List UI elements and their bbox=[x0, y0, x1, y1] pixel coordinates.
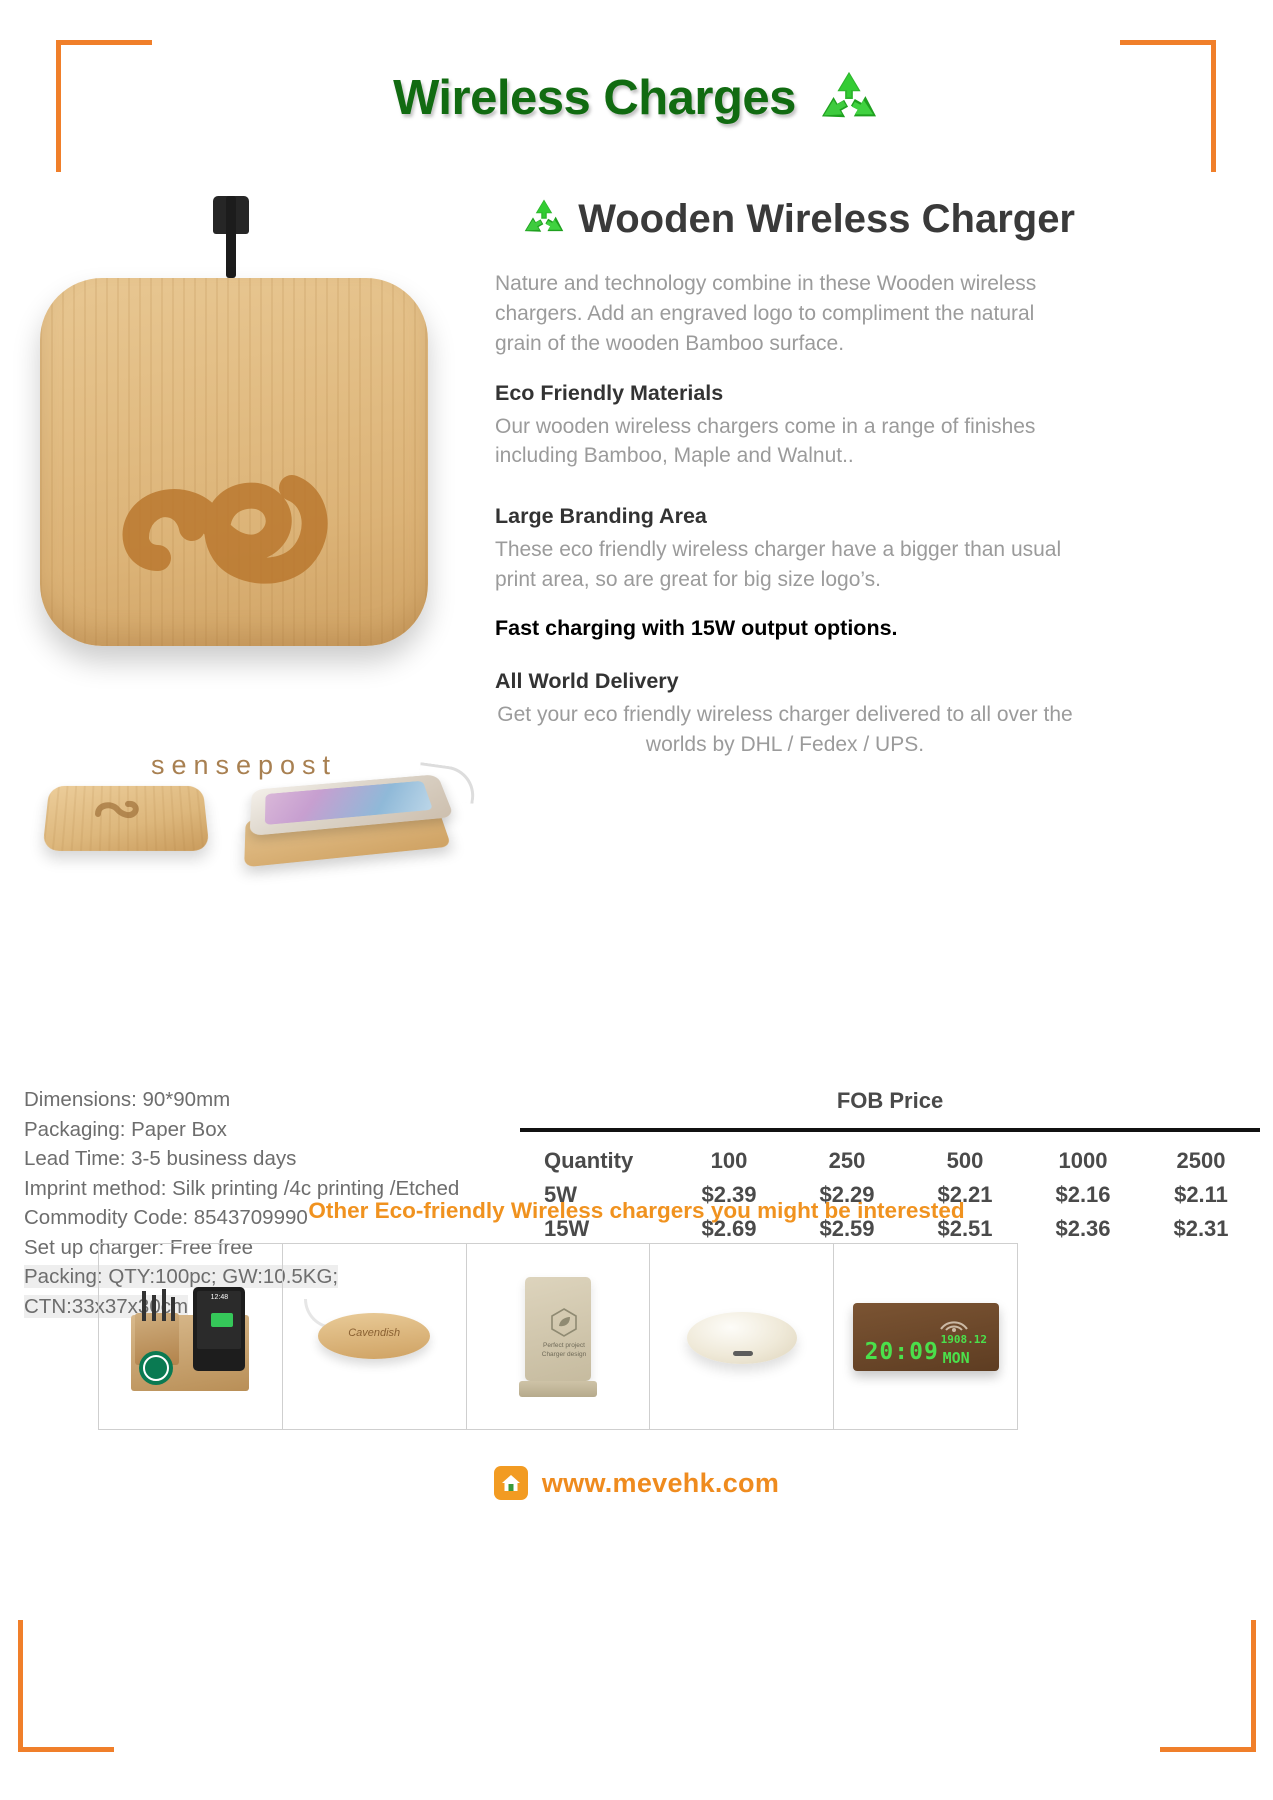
column-header-qty: 1000 bbox=[1024, 1144, 1142, 1178]
clock-time-display: 20:09 bbox=[865, 1339, 939, 1365]
price-table: Quantity 100 250 500 1000 2500 5W $2.39 … bbox=[520, 1144, 1260, 1246]
spec-line: Dimensions: 90*90mm bbox=[24, 1085, 524, 1115]
section-body: Our wooden wireless chargers come in a r… bbox=[495, 412, 1075, 471]
product-title-text: Wooden Wireless Charger bbox=[578, 197, 1075, 241]
hero-product-image: sensepost bbox=[30, 196, 460, 656]
phone-clock-label: 12:48 bbox=[197, 1294, 241, 1301]
product-description-column: Wooden Wireless Charger Nature and techn… bbox=[495, 196, 1075, 759]
product-title: Wooden Wireless Charger bbox=[495, 196, 1075, 243]
gallery-item-wheat-pad[interactable] bbox=[650, 1244, 834, 1429]
starbucks-logo-icon bbox=[139, 1351, 173, 1385]
spec-line: Lead Time: 3-5 business days bbox=[24, 1144, 524, 1174]
table-header-row: Quantity 100 250 500 1000 2500 bbox=[520, 1144, 1260, 1178]
section-body: These eco friendly wireless charger have… bbox=[495, 535, 1075, 594]
charger-cable bbox=[226, 196, 236, 278]
section-eco-materials: Eco Friendly Materials Our wooden wirele… bbox=[495, 381, 1075, 471]
clock-date-display: 1908.12 bbox=[941, 1333, 987, 1346]
gallery-item-desk-organizer[interactable]: 12:48 bbox=[99, 1244, 283, 1429]
related-products-gallery: 12:48 Cavendish bbox=[98, 1243, 1018, 1430]
leaf-badge-icon bbox=[549, 1307, 579, 1337]
gallery-item-stand[interactable]: Perfect project Charger design bbox=[467, 1244, 651, 1429]
column-header-qty: 100 bbox=[670, 1144, 788, 1178]
gallery-item-caption: Cavendish bbox=[318, 1327, 430, 1339]
gallery-item-round-bamboo[interactable]: Cavendish bbox=[283, 1244, 467, 1429]
bamboo-charging-pad: sensepost bbox=[40, 278, 428, 646]
engraved-logo-icon bbox=[106, 446, 356, 606]
recycle-icon bbox=[818, 70, 880, 126]
page-title-text: Wireless Charges bbox=[393, 70, 796, 126]
home-icon bbox=[494, 1466, 528, 1500]
datasheet-page: Wireless Charges sensepost bbox=[0, 0, 1273, 1800]
section-heading: Eco Friendly Materials bbox=[495, 381, 1075, 406]
website-url[interactable]: www.mevehk.com bbox=[542, 1468, 779, 1499]
page-title: Wireless Charges bbox=[0, 70, 1273, 126]
section-heading: All World Delivery bbox=[495, 669, 1075, 694]
corner-bracket-bottom-left bbox=[18, 1620, 114, 1752]
product-photo-top-view bbox=[38, 770, 218, 868]
engraved-logo-small-icon bbox=[90, 796, 156, 826]
fob-price-title: FOB Price bbox=[520, 1088, 1260, 1114]
gallery-item-caption: Perfect project Charger design bbox=[531, 1341, 597, 1361]
section-branding-area: Large Branding Area These eco friendly w… bbox=[495, 504, 1075, 594]
section-heading: Fast charging with 15W output options. bbox=[495, 616, 1075, 641]
column-header-qty: 2500 bbox=[1142, 1144, 1260, 1178]
section-fast-charging: Fast charging with 15W output options. bbox=[495, 616, 1075, 641]
product-photo-with-phone bbox=[240, 752, 460, 872]
column-header-quantity: Quantity bbox=[520, 1144, 670, 1178]
column-header-qty: 250 bbox=[788, 1144, 906, 1178]
footer: www.mevehk.com bbox=[0, 1466, 1273, 1500]
gallery-heading: Other Eco-friendly Wireless chargers you… bbox=[0, 1198, 1273, 1224]
product-intro-paragraph: Nature and technology combine in these W… bbox=[495, 269, 1075, 358]
section-world-delivery: All World Delivery Get your eco friendly… bbox=[495, 669, 1075, 759]
recycle-icon-small bbox=[522, 198, 566, 238]
corner-bracket-bottom-right bbox=[1160, 1620, 1256, 1752]
table-rule bbox=[520, 1128, 1260, 1132]
column-header-qty: 500 bbox=[906, 1144, 1024, 1178]
gallery-item-wooden-clock[interactable]: 20:09 1908.12 MON bbox=[834, 1244, 1017, 1429]
spec-line: Packaging: Paper Box bbox=[24, 1115, 524, 1145]
clock-day-display: MON bbox=[943, 1349, 970, 1367]
section-heading: Large Branding Area bbox=[495, 504, 1075, 529]
section-body: Get your eco friendly wireless charger d… bbox=[495, 700, 1075, 759]
